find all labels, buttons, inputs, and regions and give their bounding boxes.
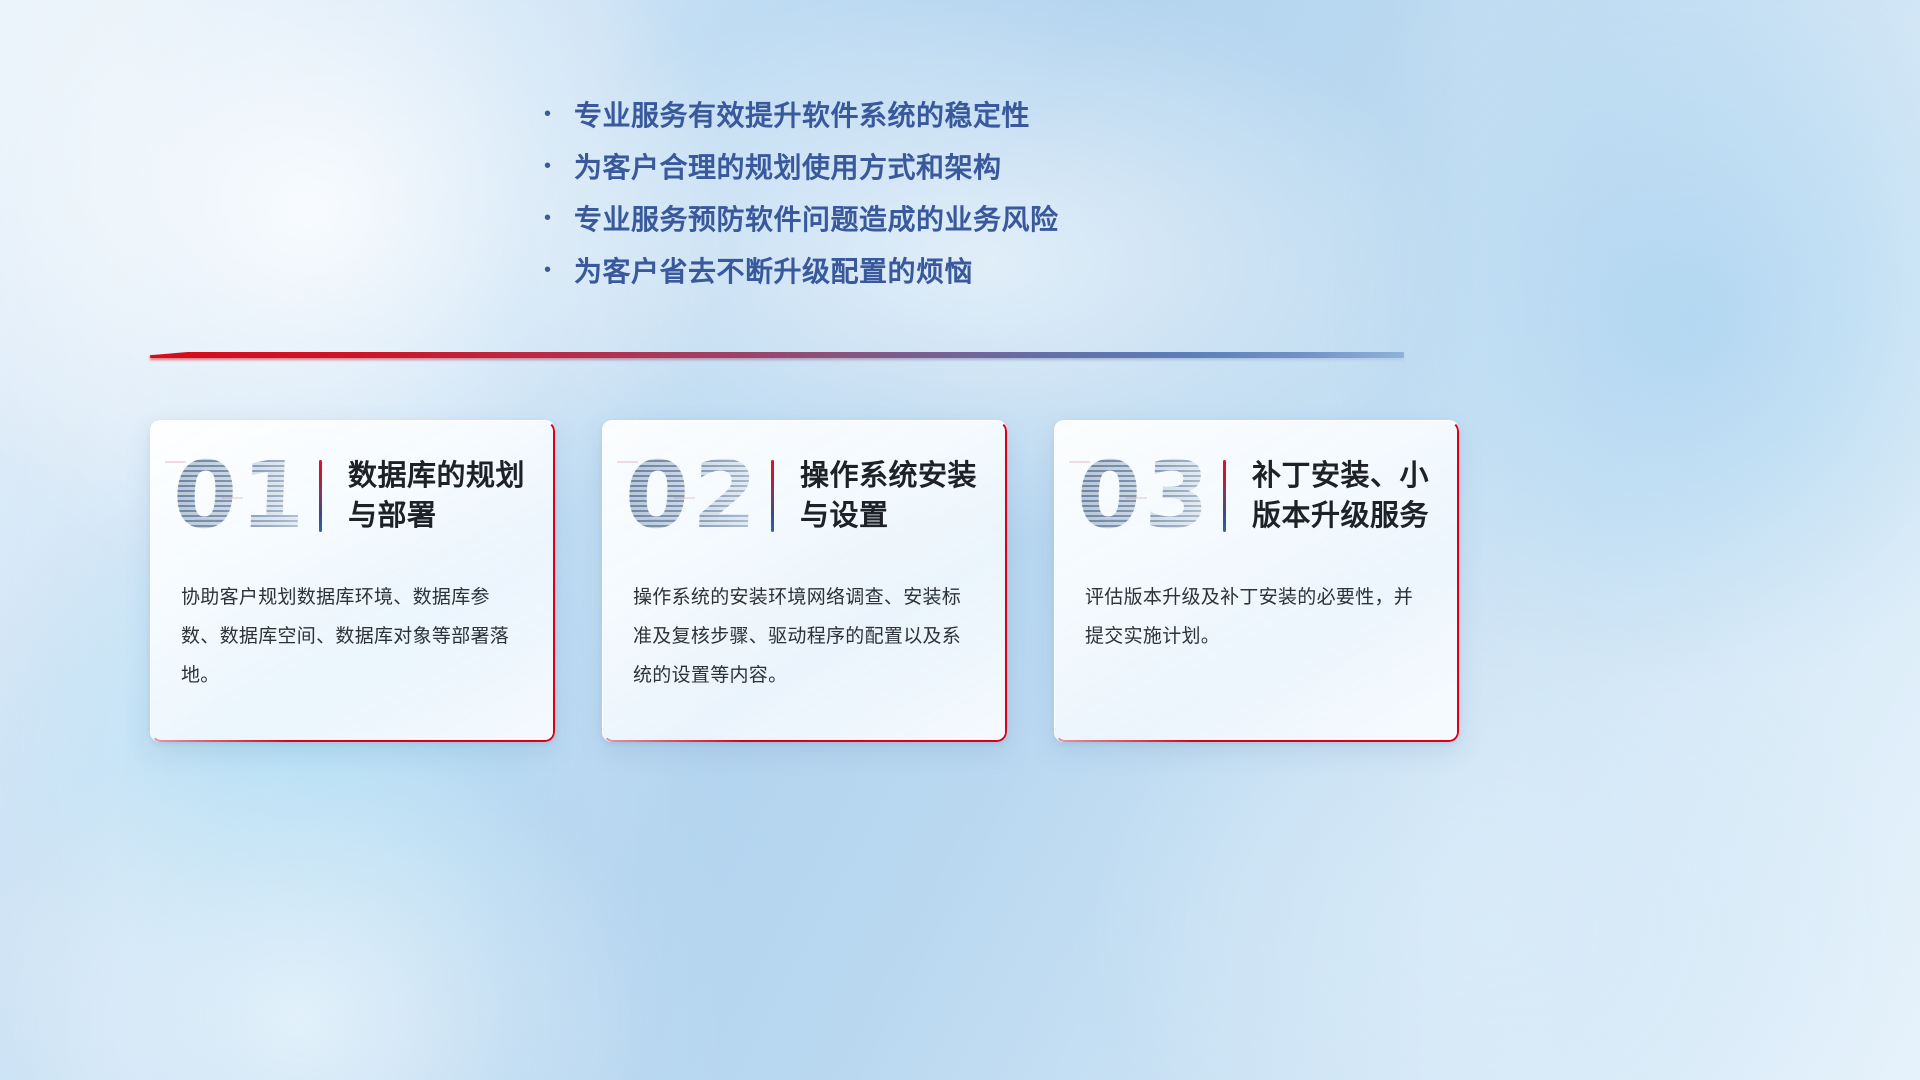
card-description: 协助客户规划数据库环境、数据库参数、数据库空间、数据库对象等部署落地。 — [151, 571, 555, 696]
service-card-01[interactable]: 01 数据库的规划 与部署 协助客户规划数据库环境、数据库参数、数据库空间、数据… — [150, 420, 555, 742]
card-description: 操作系统的安装环境网络调查、安装标准及复核步骤、驱动程序的配置以及系统的设置等内… — [603, 571, 1007, 696]
bullet-dot-icon: • — [540, 260, 574, 280]
bullet-text: 专业服务有效提升软件系统的稳定性 — [574, 94, 1030, 134]
card-accent-bar — [771, 460, 774, 532]
benefits-bullet-list: • 专业服务有效提升软件系统的稳定性 • 为客户合理的规划使用方式和架构 • 专… — [540, 88, 1360, 296]
bullet-text: 专业服务预防软件问题造成的业务风险 — [574, 198, 1059, 238]
card-number: 02 — [623, 450, 766, 542]
card-title: 数据库的规划 与部署 — [348, 456, 525, 536]
service-card-group: 01 数据库的规划 与部署 协助客户规划数据库环境、数据库参数、数据库空间、数据… — [150, 420, 1460, 742]
card-header: 03 补丁安装、小 版本升级服务 — [1055, 421, 1459, 571]
list-item: • 为客户合理的规划使用方式和架构 — [540, 140, 1360, 192]
slide-stage: • 专业服务有效提升软件系统的稳定性 • 为客户合理的规划使用方式和架构 • 专… — [0, 0, 1920, 1080]
bullet-dot-icon: • — [540, 208, 574, 228]
list-item: • 为客户省去不断升级配置的烦恼 — [540, 244, 1360, 296]
card-header: 01 数据库的规划 与部署 — [151, 421, 555, 571]
section-divider — [150, 348, 1404, 362]
service-card-02[interactable]: 02 操作系统安装 与设置 操作系统的安装环境网络调查、安装标准及复核步骤、驱动… — [602, 420, 1007, 742]
bullet-dot-icon: • — [540, 156, 574, 176]
bullet-dot-icon: • — [540, 104, 574, 124]
service-card-03[interactable]: 03 补丁安装、小 版本升级服务 评估版本升级及补丁安装的必要性，并提交实施计划… — [1054, 420, 1459, 742]
card-accent-bar — [319, 460, 322, 532]
card-number: 01 — [171, 450, 314, 542]
card-header: 02 操作系统安装 与设置 — [603, 421, 1007, 571]
divider-line — [150, 352, 1404, 358]
card-title: 补丁安装、小 版本升级服务 — [1252, 456, 1429, 536]
card-description: 评估版本升级及补丁安装的必要性，并提交实施计划。 — [1055, 571, 1459, 657]
bullet-text: 为客户合理的规划使用方式和架构 — [574, 146, 1002, 186]
list-item: • 专业服务有效提升软件系统的稳定性 — [540, 88, 1360, 140]
card-accent-bar — [1223, 460, 1226, 532]
bullet-text: 为客户省去不断升级配置的烦恼 — [574, 250, 973, 290]
card-number: 03 — [1075, 450, 1218, 542]
list-item: • 专业服务预防软件问题造成的业务风险 — [540, 192, 1360, 244]
card-title: 操作系统安装 与设置 — [800, 456, 977, 536]
